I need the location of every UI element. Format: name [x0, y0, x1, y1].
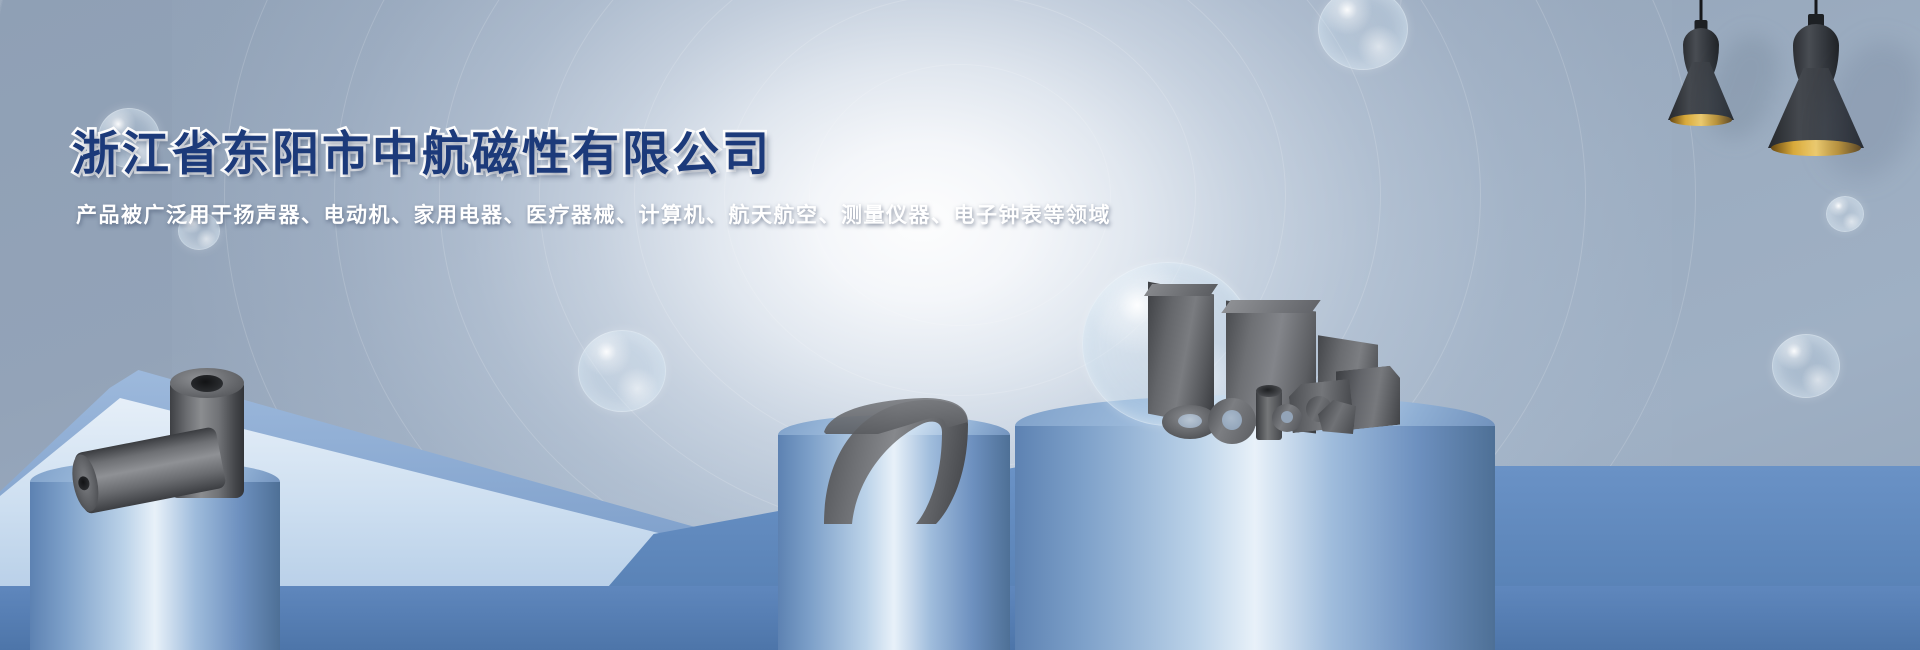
ring-magnet-large-hole — [1178, 414, 1202, 428]
bubble-center-mid — [578, 330, 666, 412]
hero-banner: 浙江省东阳市中航磁性有限公司 产品被广泛用于扬声器、电动机、家用电器、医疗器械、… — [0, 0, 1920, 650]
ring-magnet-small-a-hole — [1281, 411, 1293, 423]
banner-text-block: 浙江省东阳市中航磁性有限公司 产品被广泛用于扬声器、电动机、家用电器、医疗器械、… — [72, 126, 1111, 229]
block-plate-back-left — [1148, 282, 1214, 427]
ring-magnet-medium-hole — [1222, 410, 1242, 430]
block-plate-back-left-edge — [1144, 284, 1218, 296]
banner-subtitle: 产品被广泛用于扬声器、电动机、家用电器、医疗器械、计算机、航天航空、测量仪器、电… — [76, 199, 1111, 229]
bubble-far-right-small — [1826, 196, 1864, 232]
bubble-far-right-mid — [1772, 334, 1840, 398]
block-plate-center-edge — [1221, 300, 1320, 313]
arc-segment-magnet — [818, 398, 968, 524]
page-title: 浙江省东阳市中航磁性有限公司 — [72, 126, 1111, 181]
small-cylinder-face — [1256, 385, 1282, 397]
bubble-top-right — [1318, 0, 1408, 70]
